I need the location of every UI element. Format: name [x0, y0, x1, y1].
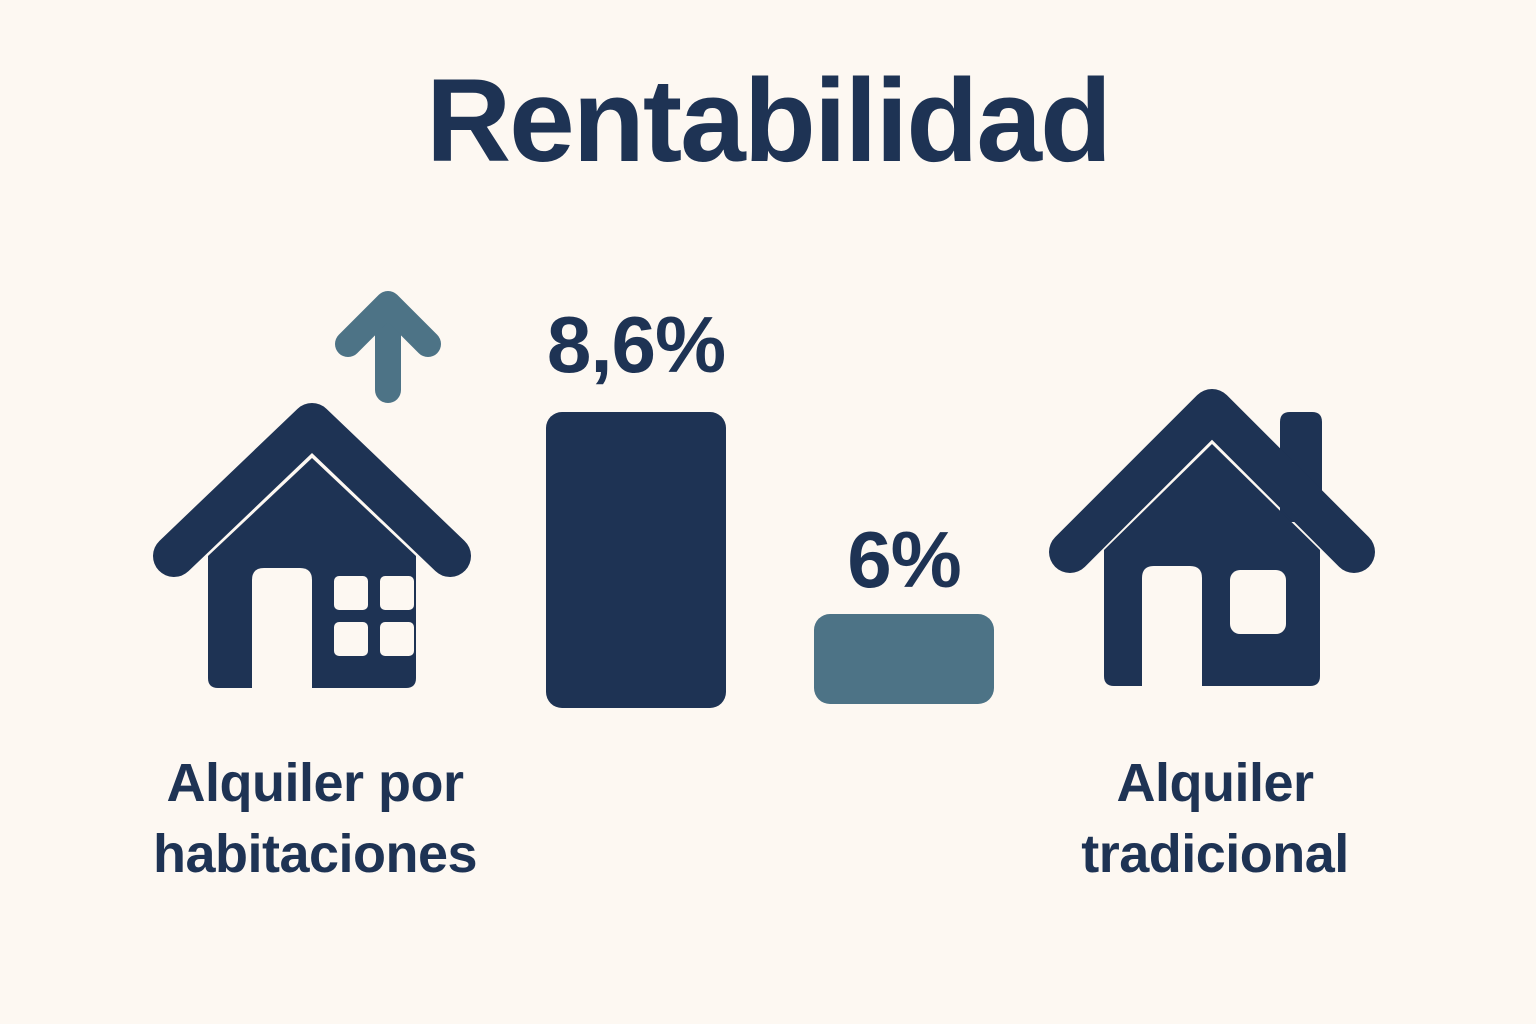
- page-title: Rentabilidad: [0, 62, 1536, 180]
- house-door: [1142, 566, 1202, 686]
- house-with-up-arrow-icon: [152, 288, 472, 688]
- house-window-pane: [334, 622, 368, 656]
- category-caption-left: Alquiler por habitaciones: [90, 748, 540, 891]
- house-window: [1230, 570, 1286, 634]
- house-window-pane: [380, 576, 414, 610]
- category-caption-right: Alquiler tradicional: [990, 748, 1440, 891]
- bar-value-label-secondary: 6%: [814, 520, 994, 600]
- arrow-up-icon: [348, 304, 428, 390]
- house-window-pane: [334, 576, 368, 610]
- bar-primary: [546, 412, 726, 708]
- infographic-canvas: Rentabilidad 8,6% 6%: [0, 0, 1536, 1024]
- house-with-chimney-icon: [1048, 370, 1376, 688]
- bar-value-label-primary: 8,6%: [546, 305, 726, 385]
- bar-secondary: [814, 614, 994, 704]
- house-door: [252, 568, 312, 688]
- house-window-pane: [380, 622, 414, 656]
